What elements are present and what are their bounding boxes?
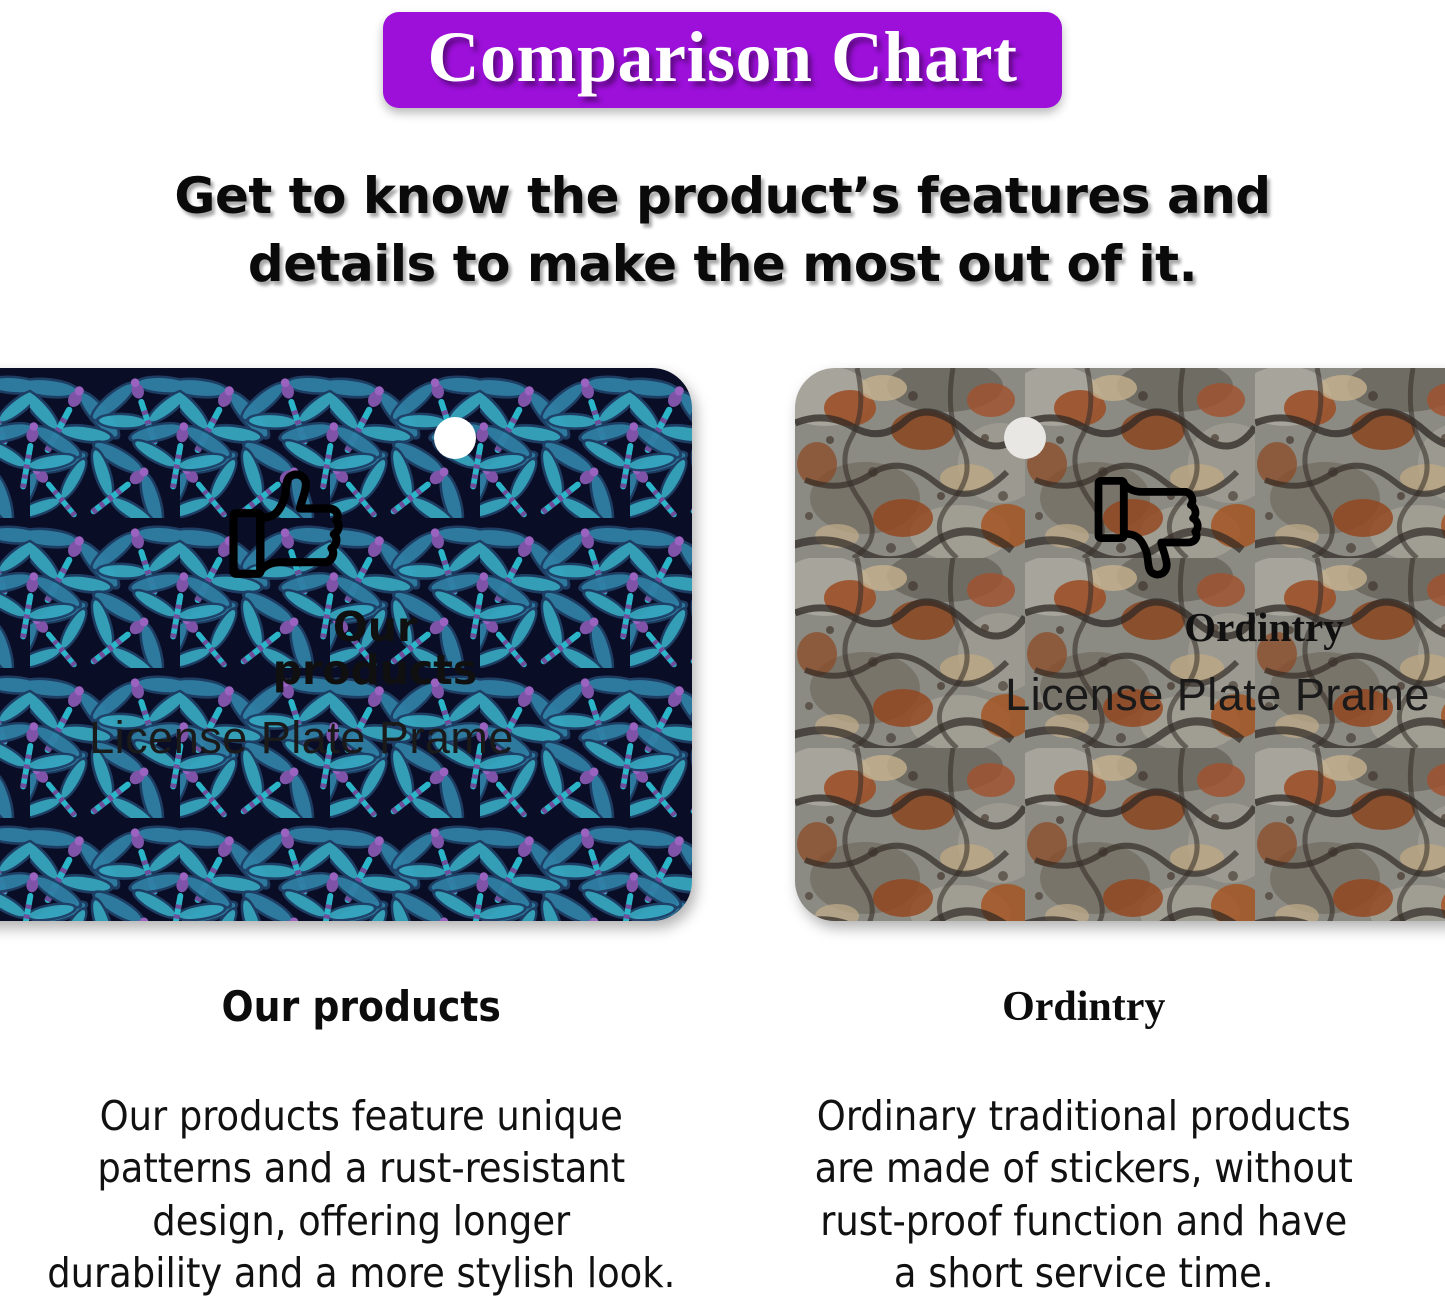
- our-product-description-column: Our products Our products feature unique…: [0, 980, 723, 1314]
- description-row: Our products Our products feature unique…: [0, 980, 1445, 1314]
- rusted-metal-frame-surface: [795, 368, 1445, 921]
- description-line: design, offering longer: [26, 1195, 697, 1247]
- description-line: rust-proof function and have: [757, 1195, 1412, 1247]
- ordinary-product-heading: Ordintry: [757, 986, 1412, 1028]
- description-line: Our products feature unique: [26, 1090, 697, 1142]
- our-product-license-plate-frame: [0, 368, 692, 921]
- description-line: patterns and a rust-resistant: [26, 1142, 697, 1194]
- our-product-description: Our products feature unique patterns and…: [26, 1090, 697, 1300]
- ordinary-product-description: Ordinary traditional products are made o…: [757, 1090, 1412, 1300]
- mounting-hole-icon: [434, 417, 476, 459]
- description-line: Ordinary traditional products: [757, 1090, 1412, 1142]
- comparison-chart-banner: Comparison Chart: [383, 12, 1061, 108]
- ordinary-product-license-plate-frame: [795, 368, 1445, 921]
- description-line: a short service time.: [757, 1247, 1412, 1299]
- dragonfly-frame-surface: [0, 368, 692, 921]
- our-product-heading: Our products: [26, 986, 697, 1028]
- ordinary-product-description-column: Ordintry Ordinary traditional products a…: [723, 980, 1445, 1314]
- header-banner-container: Comparison Chart: [0, 12, 1445, 108]
- subtitle-line-2: details to make the most out of it.: [60, 231, 1385, 299]
- subtitle-line-1: Get to know the product’s features and: [60, 163, 1385, 231]
- subtitle: Get to know the product’s features and d…: [0, 163, 1445, 298]
- mounting-hole-icon: [1004, 417, 1046, 459]
- description-line: durability and a more stylish look.: [26, 1247, 697, 1299]
- description-line: are made of stickers, without: [757, 1142, 1412, 1194]
- frames-comparison-row: Our products License Plate Prame: [0, 355, 1445, 935]
- page-title: Comparison Chart: [427, 21, 1017, 93]
